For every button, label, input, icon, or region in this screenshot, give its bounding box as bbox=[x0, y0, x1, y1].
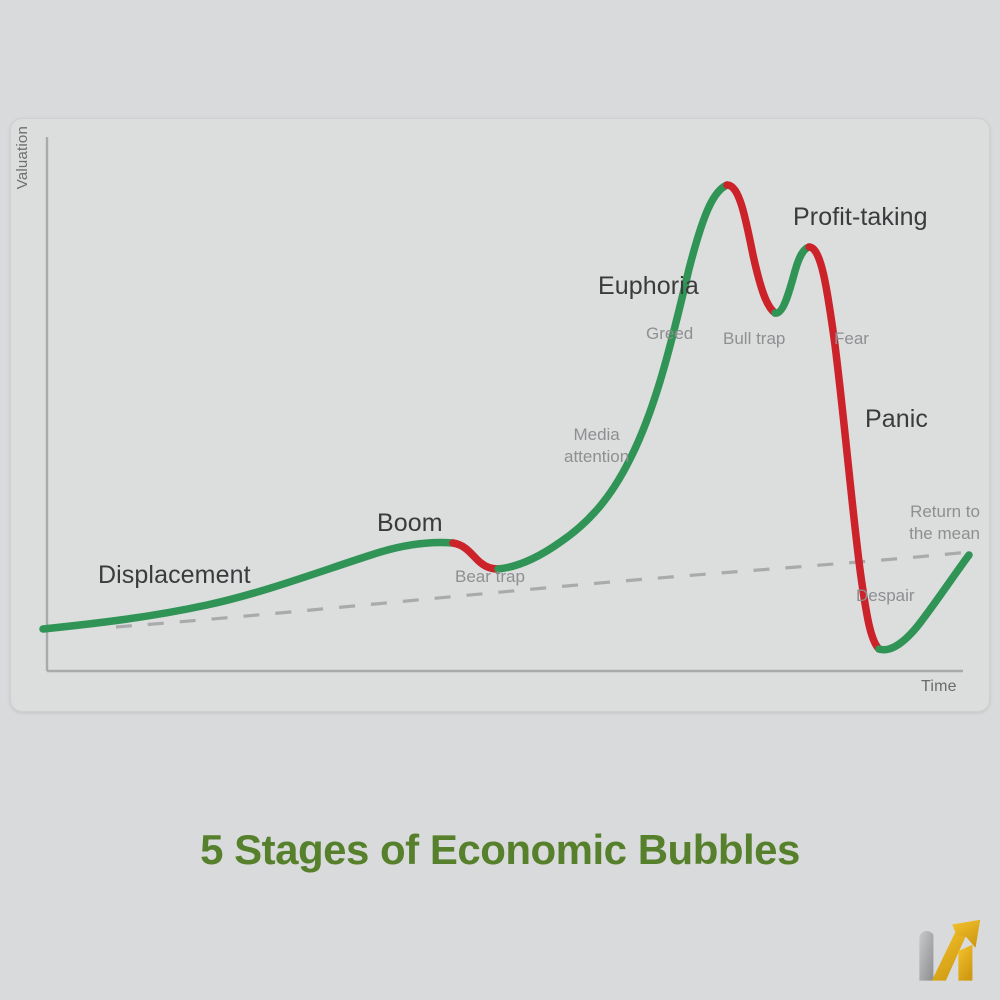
annotation-bear-trap: Bear trap bbox=[455, 566, 525, 588]
stage-label-profit-taking: Profit-taking bbox=[793, 203, 928, 232]
annotation-media-attention: Media attention bbox=[564, 424, 629, 468]
x-axis-title: Time bbox=[921, 678, 957, 696]
curve-segment-euphoria-rise bbox=[498, 185, 727, 569]
curve-segment-bull-trap-rebound bbox=[775, 247, 809, 313]
annotation-despair: Despair bbox=[856, 585, 915, 607]
annotation-fear: Fear bbox=[834, 328, 869, 350]
annotation-bull-trap: Bull trap bbox=[723, 328, 785, 350]
annotation-return-to-the-mean-line2: the mean bbox=[885, 523, 980, 545]
stage-label-euphoria: Euphoria bbox=[598, 272, 699, 301]
annotation-return-to-the-mean-line1: Return to bbox=[885, 501, 980, 523]
annotation-return-to-the-mean: Return to the mean bbox=[885, 501, 980, 545]
stage-label-panic: Panic bbox=[865, 405, 928, 434]
curve-segment-bull-trap-drop bbox=[727, 185, 775, 313]
stage-label-displacement: Displacement bbox=[98, 561, 251, 590]
y-axis-title: Valuation bbox=[14, 126, 31, 189]
annotation-greed: Greed bbox=[646, 323, 693, 345]
m-arrow-logo bbox=[910, 912, 988, 990]
annotation-media-attention-line2: attention bbox=[564, 446, 629, 468]
stage-label-boom: Boom bbox=[377, 509, 443, 538]
page-title: 5 Stages of Economic Bubbles bbox=[0, 826, 1000, 874]
annotation-media-attention-line1: Media bbox=[564, 424, 629, 446]
logo-gold-stem-right bbox=[958, 945, 972, 981]
logo-grey-stem bbox=[919, 931, 933, 981]
